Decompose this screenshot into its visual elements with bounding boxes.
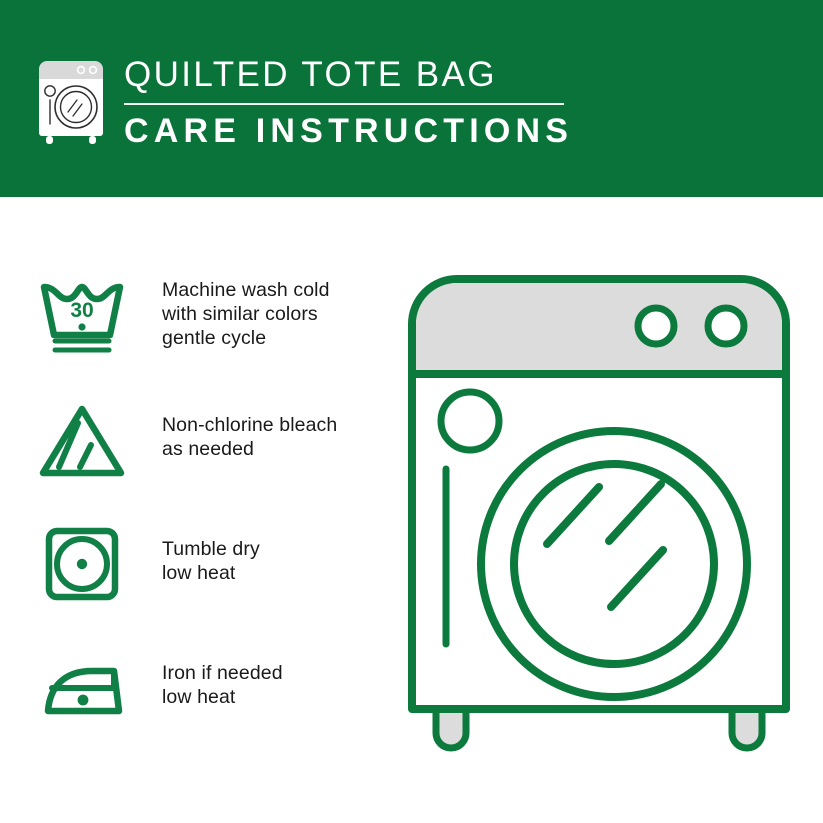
list-item: Non-chlorine bleach as needed <box>34 399 394 523</box>
knob-left <box>638 308 674 344</box>
page-title: QUILTED TOTE BAG <box>124 55 573 95</box>
wash-temperature-label: 30 <box>70 299 93 322</box>
iron-low-heat-symbol <box>34 647 130 729</box>
list-item: 30 Machine wash cold with similar colors… <box>34 275 394 399</box>
washing-machine-icon <box>34 52 108 146</box>
list-item-label: Tumble dry low heat <box>162 523 260 585</box>
list-item-label: Non-chlorine bleach as needed <box>162 399 337 461</box>
header-banner: QUILTED TOTE BAG CARE INSTRUCTIONS <box>0 0 823 197</box>
tumble-dry-low-symbol <box>34 523 130 605</box>
list-item: Tumble dry low heat <box>34 523 394 647</box>
front-load-washing-machine-illustration <box>404 269 794 769</box>
list-item-label: Iron if needed low heat <box>162 647 283 709</box>
content-area: 30 Machine wash cold with similar colors… <box>0 197 823 823</box>
page-subtitle: CARE INSTRUCTIONS <box>124 112 573 150</box>
care-instruction-list: 30 Machine wash cold with similar colors… <box>34 275 394 771</box>
non-chlorine-bleach-symbol <box>34 399 130 481</box>
knob-right <box>708 308 744 344</box>
door-outer-ring <box>481 431 747 697</box>
indicator-dial <box>441 392 499 450</box>
header-content: QUILTED TOTE BAG CARE INSTRUCTIONS <box>34 52 573 150</box>
machine-wash-30-gentle-symbol: 30 <box>34 275 130 357</box>
title-divider <box>124 103 564 105</box>
list-item: Iron if needed low heat <box>34 647 394 771</box>
header-title-group: QUILTED TOTE BAG CARE INSTRUCTIONS <box>124 52 573 150</box>
list-item-label: Machine wash cold with similar colors ge… <box>162 275 330 350</box>
